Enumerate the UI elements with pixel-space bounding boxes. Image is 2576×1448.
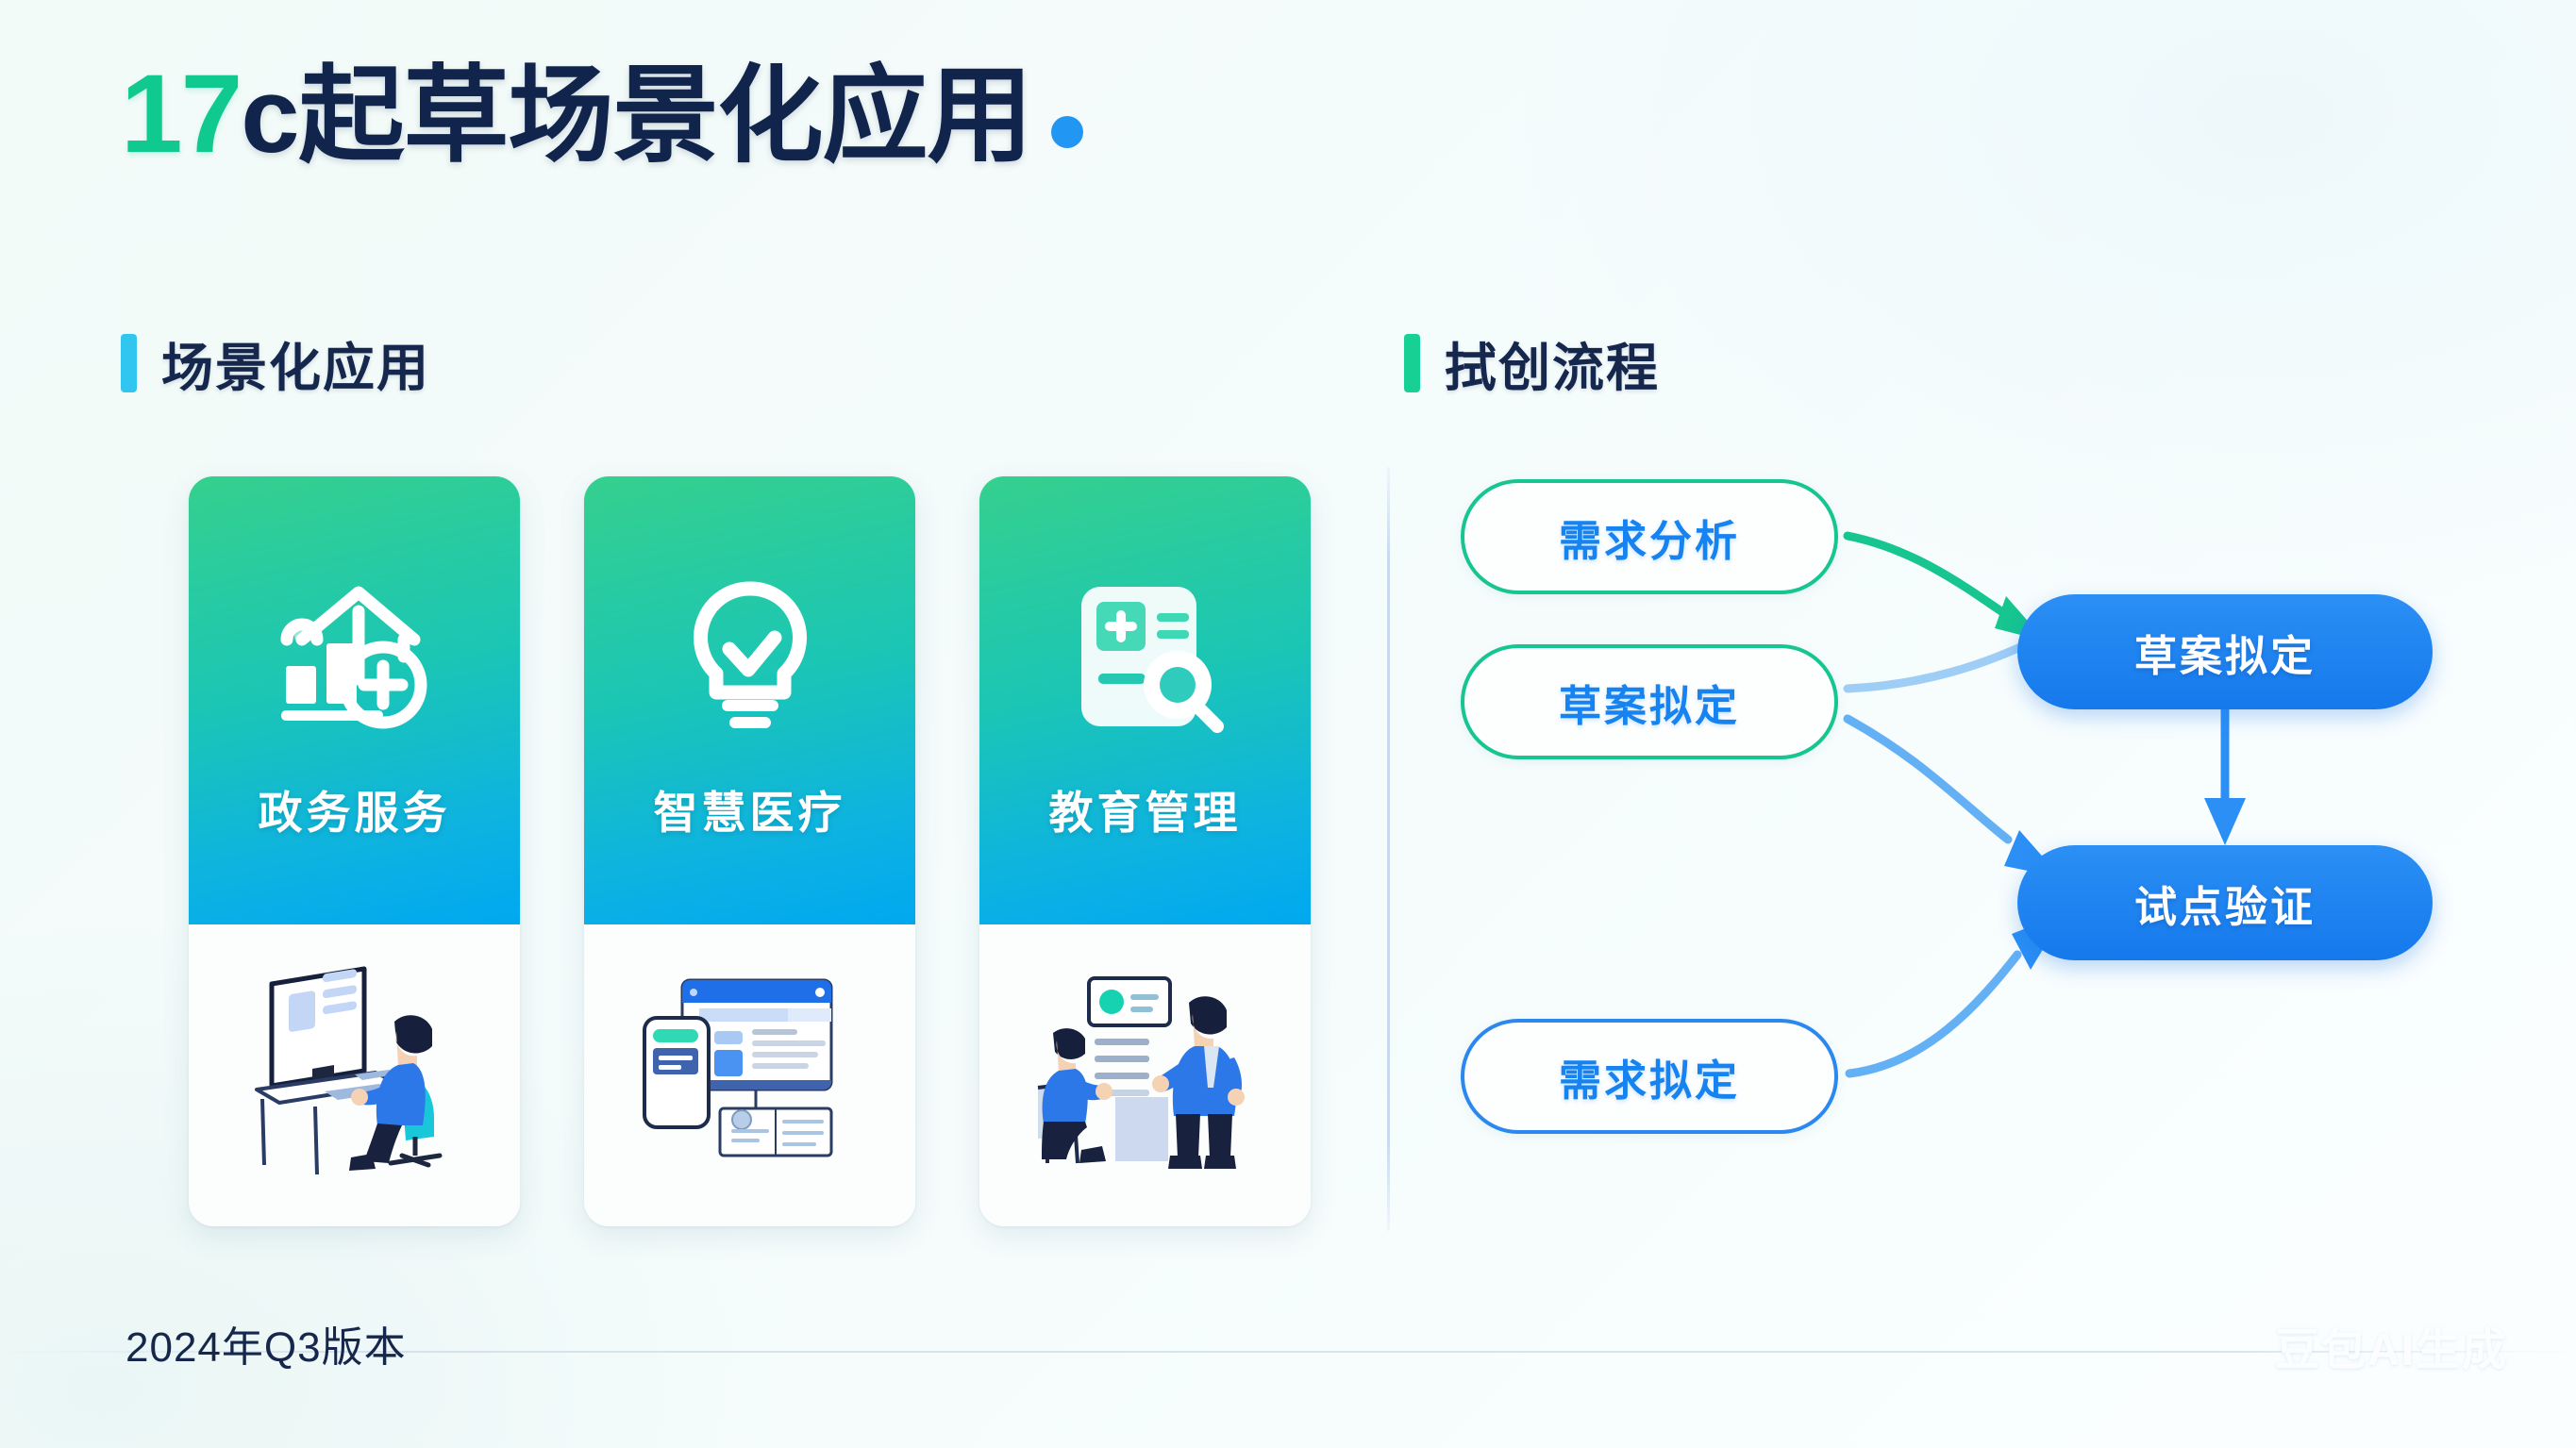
blue-dot-icon	[1051, 116, 1083, 148]
slide-canvas: 17 c起草场景化应用 场景化应用 拭创流程	[0, 0, 2576, 1448]
scenario-card[interactable]: 教育管理	[979, 476, 1311, 1226]
scenario-card[interactable]: 政务服务	[189, 476, 520, 1226]
lightbulb-check-icon	[651, 571, 849, 741]
process-flow-diagram: 需求分析 草案拟定 需求拟定 草案拟定 试点验证	[1453, 462, 2501, 1236]
arrow-blue-draft-to-draft	[1848, 638, 2040, 689]
flow-node-label: 需求分析	[1559, 507, 1740, 568]
accent-bar-icon	[1404, 334, 1420, 392]
section-header-process: 拭创流程	[1404, 325, 1660, 401]
section-header-scenarios: 场景化应用	[121, 325, 430, 401]
phone-browser-card-ui-illustration	[609, 948, 892, 1203]
flow-node-label: 草案拟定	[1559, 672, 1740, 733]
section-label-left: 场景化应用	[161, 325, 430, 401]
arrow-blue-draft-to-pilot	[1848, 719, 2061, 877]
card-illustration-area	[979, 924, 1311, 1226]
flow-node-label: 草案拟定	[2134, 622, 2316, 683]
vertical-divider	[1387, 467, 1390, 1231]
title-main-text: c起草场景化应用	[241, 63, 1031, 169]
flow-node-draft-formulation[interactable]: 草案拟定	[1461, 644, 1838, 759]
flow-node-label: 试点验证	[2134, 873, 2316, 934]
section-label-right: 拭创流程	[1445, 325, 1660, 401]
person-at-desk-with-monitor-illustration	[213, 948, 496, 1203]
card-label: 教育管理	[1049, 776, 1242, 841]
arrow-green-analysis-to-draft	[1848, 536, 2046, 641]
card-illustration-area	[189, 924, 520, 1226]
card-header: 智慧医疗	[584, 476, 915, 924]
scenario-card-list: 政务服务	[189, 476, 1311, 1226]
card-label: 智慧医疗	[654, 776, 846, 841]
flow-node-draft-result[interactable]: 草案拟定	[2017, 594, 2433, 709]
flow-node-pilot-verification[interactable]: 试点验证	[2017, 845, 2433, 960]
card-illustration-area	[584, 924, 915, 1226]
version-note: 2024年Q3版本	[125, 1313, 407, 1373]
flow-node-requirement-formulation[interactable]: 需求拟定	[1461, 1019, 1838, 1134]
arrow-vertical-draft-to-pilot	[2204, 709, 2246, 845]
calculator-document-search-icon	[1046, 571, 1245, 741]
card-label: 政务服务	[259, 776, 451, 841]
page-title: 17 c起草场景化应用	[121, 58, 1083, 170]
watermark-label: 豆包AI生成	[2275, 1313, 2508, 1378]
scenario-card[interactable]: 智慧医疗	[584, 476, 915, 1226]
card-header: 教育管理	[979, 476, 1311, 924]
flow-node-requirement-analysis[interactable]: 需求分析	[1461, 479, 1838, 594]
two-people-service-counter-illustration	[1004, 948, 1287, 1203]
flow-node-label: 需求拟定	[1559, 1046, 1740, 1107]
title-number: 17	[121, 58, 241, 170]
card-header: 政务服务	[189, 476, 520, 924]
accent-bar-icon	[121, 334, 137, 392]
house-bar-chart-plus-icon	[256, 571, 454, 741]
